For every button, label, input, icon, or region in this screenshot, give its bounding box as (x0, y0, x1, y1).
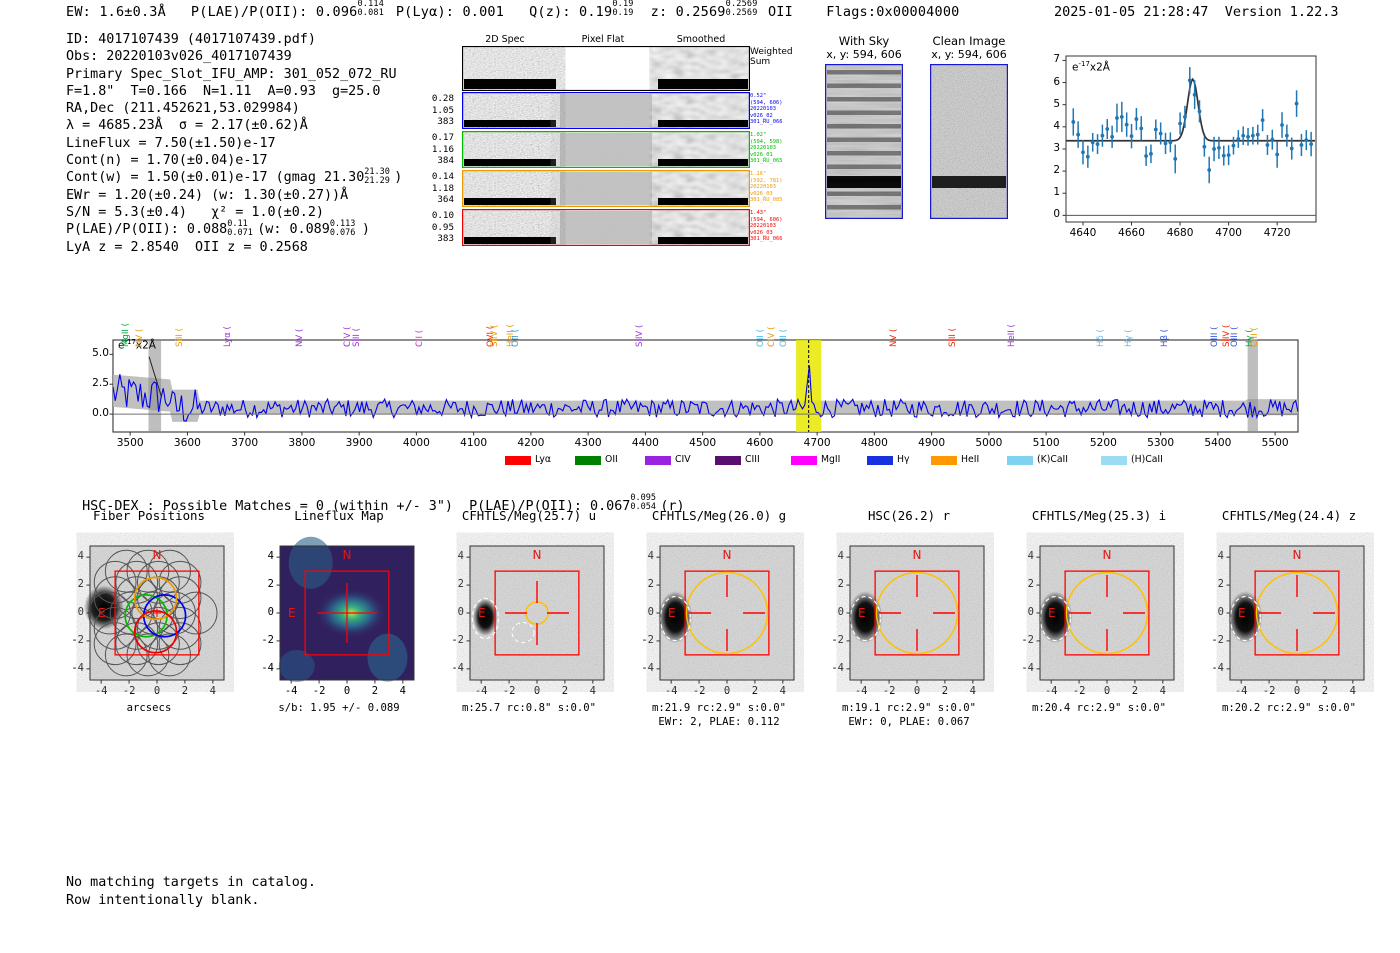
spectrum-xtick: 4500 (683, 437, 723, 449)
col-header-smoothed: Smoothed (656, 34, 746, 45)
compass-north: N (723, 548, 732, 562)
legend-label-Lyα: Lyα (535, 454, 551, 465)
spectrum-xtick: 4600 (740, 437, 780, 449)
spectrum-line-label: MgII ( (121, 323, 131, 347)
cutout-panel-5: CFHTLS/Meg(25.3) i-4-2024-4-2024NEm:20.4… (1014, 508, 1184, 723)
compass-north: N (343, 548, 352, 562)
weighted-sum-strip (462, 46, 750, 91)
info-cont-n: Cont(n) = 1.70(±0.04)e-17 (66, 152, 402, 169)
legend-label-CIV: CIV (675, 454, 691, 465)
fiber-weights-1: 0.171.16384 (424, 132, 454, 167)
legend-swatch-MgII (791, 456, 817, 465)
sky-panel-image-0 (825, 64, 903, 219)
header-summary-line: EW: 1.6±0.3Å P(LAE)/P(OII): 0.0960.1140.… (66, 4, 960, 20)
z-value: 0.2569 (676, 4, 726, 20)
cutout-image-4: NE (824, 522, 994, 692)
spectrum-ytick: 5.0 (85, 347, 109, 359)
z-errors: 0.25690.2569 (726, 5, 760, 19)
spectrum-line-label: SiIV ( (490, 325, 500, 347)
legend-label-Hγ: Hγ (897, 454, 910, 465)
spectrum-line-label: CIV ( (767, 327, 777, 348)
sky-panel-title-0: With Sky (820, 34, 908, 48)
legend-swatch-CIV (645, 456, 671, 465)
fiber-weights-0: 0.281.05383 (424, 93, 454, 128)
fiber-weights-3: 0.100.95383 (424, 210, 454, 245)
cutout-title-4: HSC(26.2) r (824, 508, 994, 523)
timestamp: 2025-01-05 21:28:47 (1054, 4, 1208, 20)
legend-swatch-HeII (931, 456, 957, 465)
spectrum-line-label: CIII ( (1250, 327, 1260, 347)
cutout-caption-4: m:19.1 rc:2.9" s:0.0" (824, 702, 994, 714)
fiber-weights-2: 0.141.18364 (424, 171, 454, 206)
spectrum-xtick: 5300 (1141, 437, 1181, 449)
cutout-image-5: NE (1014, 522, 1184, 692)
legend-label-CIII: CIII (745, 454, 760, 465)
legend-swatch-Hγ (867, 456, 893, 465)
flags-value: Flags:0x00004000 (826, 4, 959, 20)
spectrum-xtick: 4100 (454, 437, 494, 449)
fiber-meta-2: 1.16" (592, 781) 20220103 v026_03 301_RU… (750, 171, 782, 204)
compass-east: E (288, 606, 296, 620)
spectrum-legend: LyαOIICIVCIIIMgIIHγHeII(K)CaII(H)CaII (85, 454, 1300, 468)
fiber-meta-3: 1.43" (594, 606) 20220103 v026_03 301_RU… (750, 210, 782, 243)
linefit-xtick: 4700 (1213, 227, 1245, 239)
z-label: z: (651, 4, 668, 20)
fiber-weight-b: 1.18 (424, 183, 454, 195)
cutout-caption-0: arcsecs (64, 702, 234, 714)
fiber-weight-b: 1.16 (424, 144, 454, 156)
fiber-weight-b: 0.95 (424, 222, 454, 234)
compass-north: N (1103, 548, 1112, 562)
spectrum-line-label: SiII ( (175, 328, 185, 347)
spectrum-xtick: 4300 (568, 437, 608, 449)
fiber-weight-c: 383 (424, 116, 454, 128)
line-fit-svg (1032, 46, 1322, 256)
spectrum-line-label: Lyα ( (223, 326, 233, 347)
cutout-panel-2: CFHTLS/Meg(25.7) u-4-2024-4-2024NEm:25.7… (444, 508, 614, 723)
spectrum-xtick: 4900 (912, 437, 952, 449)
ew-value: 1.6±0.3Å (99, 4, 166, 20)
spectrum-xtick: 3700 (225, 437, 265, 449)
info-seeing: F=1.8" T=0.166 N=1.11 A=0.93 g=25.0 (66, 83, 402, 100)
col-header-pixelflat: Pixel Flat (558, 34, 648, 45)
legend-label-MgII: MgII (821, 454, 840, 465)
cutout-panel-3: CFHTLS/Meg(26.0) g-4-2024-4-2024NEm:21.9… (634, 508, 804, 723)
spectrum-line-label: OII ( (511, 329, 521, 347)
qz-value: 0.19 (579, 4, 612, 20)
col-header-2dspec: 2D Spec (460, 34, 550, 45)
spectrum-ytick: 0.0 (85, 407, 109, 419)
spectrum-xtick: 3500 (110, 437, 150, 449)
linefit-xtick: 4720 (1261, 227, 1293, 239)
line-fit-plot: e-17x2Å4640466046804700472001234567 (1032, 46, 1322, 256)
cutout-title-3: CFHTLS/Meg(26.0) g (634, 508, 804, 523)
object-info-block: ID: 4017107439 (4017107439.pdf) Obs: 202… (66, 31, 402, 256)
sky-panel-coords-1: x, y: 594, 606 (925, 48, 1013, 61)
footer-line-2: Row intentionally blank. (66, 892, 316, 910)
footer-note: No matching targets in catalog. Row inte… (66, 874, 316, 910)
footer-line-1: No matching targets in catalog. (66, 874, 316, 892)
compass-north: N (533, 548, 542, 562)
plya-label: P(Lyα): (396, 4, 454, 20)
spectrum-line-label: SiII ( (948, 328, 958, 347)
cutout-title-0: Fiber Positions (64, 508, 234, 523)
fiber-weight-a: 0.28 (424, 93, 454, 105)
info-lineflux: LineFlux = 7.50(±1.50)e-17 (66, 135, 402, 152)
info-plae-w-errors: 0.1130.076 (330, 222, 362, 236)
spectrum-xtick: 4800 (854, 437, 894, 449)
legend-swatch-(H)CaII (1101, 456, 1127, 465)
spectrum-line-label: Hδ ( (1096, 329, 1106, 347)
linefit-ytick: 5 (1042, 98, 1060, 110)
spectrum-line-label: NV ( (889, 329, 899, 347)
fiber-weight-c: 384 (424, 155, 454, 167)
svg-text:+: + (152, 606, 163, 621)
spectrum-line-label: Hγ ( (1124, 329, 1134, 347)
gmag-errors: 21.3021.29 (364, 170, 394, 184)
version-label: Version 1.22.3 (1225, 4, 1339, 20)
spectrum-line-label: HeII ( (1007, 324, 1017, 347)
linefit-xtick: 4660 (1116, 227, 1148, 239)
cutout-caption-6: m:20.2 rc:2.9" s:0.0" (1204, 702, 1374, 714)
spectrum-line-label: SiIV ( (635, 325, 645, 347)
plae-value: 0.096 (316, 4, 358, 20)
sky-panel-image-1 (930, 64, 1008, 219)
fiber-weight-a: 0.17 (424, 132, 454, 144)
spectrum-line-label: NV ( (135, 329, 145, 347)
linefit-ytick: 6 (1042, 76, 1060, 88)
cutout-image-3: NE (634, 522, 804, 692)
info-lambda-sigma: λ = 4685.23Å σ = 2.17(±0.62)Å (66, 117, 402, 134)
header-timestamp-version: 2025-01-05 21:28:47 Version 1.22.3 (1054, 4, 1339, 20)
cutout-image-2: NE (444, 522, 614, 692)
info-cont-w: Cont(w) = 1.50(±0.01)e-17 (gmag 21.3021.… (66, 169, 402, 186)
info-id: ID: 4017107439 (4017107439.pdf) (66, 31, 402, 48)
spectrum-xtick: 4400 (625, 437, 665, 449)
legend-swatch-(K)CaII (1007, 456, 1033, 465)
spectrum-ytick: 2.5 (85, 377, 109, 389)
linefit-ytick: 0 (1042, 208, 1060, 220)
linefit-xtick: 4640 (1067, 227, 1099, 239)
legend-label-HeII: HeII (961, 454, 979, 465)
cutout-image-1: NE (254, 522, 424, 692)
spectrum-xtick: 5400 (1198, 437, 1238, 449)
legend-swatch-OII (575, 456, 601, 465)
cutout-panel-6: CFHTLS/Meg(24.4) z-4-2024-4-2024NEm:20.2… (1204, 508, 1374, 723)
sky-panel-title-1: Clean Image (925, 34, 1013, 48)
cutout-caption-5: m:20.4 rc:2.9" s:0.0" (1014, 702, 1184, 714)
info-plae: P(LAE)/P(OII): 0.0880.110.071(w: 0.0890.… (66, 221, 402, 238)
fiber-strip-2 (462, 170, 750, 207)
info-spec-slot: Primary Spec_Slot_IFU_AMP: 301_052_072_R… (66, 66, 402, 83)
spectrum-xtick: 4200 (511, 437, 551, 449)
spectrum-xtick: 5500 (1255, 437, 1295, 449)
spectrum-xtick: 3900 (339, 437, 379, 449)
cutout-image-6: NE (1204, 522, 1374, 692)
info-obs: Obs: 20220103v026_4017107439 (66, 48, 402, 65)
compass-east: E (858, 606, 866, 620)
cutout-caption2-3: EWr: 2, PLAE: 0.112 (634, 716, 804, 728)
spectrum-line-label: OIII ( (1210, 327, 1220, 347)
spectrum-line-label: OIII ( (1230, 327, 1240, 347)
spectrum-line-label: OII ( (756, 329, 766, 347)
linefit-ytick: 1 (1042, 186, 1060, 198)
plae-errors: 0.1140.081 (357, 5, 387, 19)
info-radec: RA,Dec (211.452621,53.029984) (66, 100, 402, 117)
spectrum-xtick: 5200 (1083, 437, 1123, 449)
legend-swatch-Lyα (505, 456, 531, 465)
spectrum-xtick: 5100 (1026, 437, 1066, 449)
fiber-meta-1: 1.02" (594, 598) 20220103 v026_01 301_RU… (750, 132, 782, 165)
plya-value: 0.001 (462, 4, 504, 20)
spectrum-line-label: NV ( (295, 329, 305, 347)
fiber-strip-3 (462, 209, 750, 246)
spectrum-line-label: CII ( (415, 330, 425, 347)
spectrum-xtick: 5000 (969, 437, 1009, 449)
spectrum-xtick: 4000 (396, 437, 436, 449)
cutout-panel-0: Fiber Positions-4-2024-4-2024+NEarcsecs (64, 508, 234, 723)
weighted-sum-label: Weighted Sum (750, 47, 793, 67)
compass-north: N (913, 548, 922, 562)
spectrum-line-label: Hβ ( (1160, 329, 1170, 347)
qz-errors: 0.190.19 (612, 5, 642, 19)
legend-label-OII: OII (605, 454, 618, 465)
cutout-title-6: CFHTLS/Meg(24.4) z (1204, 508, 1374, 523)
fiber-weight-a: 0.10 (424, 210, 454, 222)
ew-label: EW: (66, 4, 91, 20)
linefit-ytick: 2 (1042, 164, 1060, 176)
cutout-panel-4: HSC(26.2) r-4-2024-4-2024NEm:19.1 rc:2.9… (824, 508, 994, 723)
spectrum-line-label: SiII ( (352, 328, 362, 347)
compass-east: E (98, 606, 106, 620)
qz-label: Q(z): (529, 4, 571, 20)
legend-swatch-CIII (715, 456, 741, 465)
compass-east: E (1048, 606, 1056, 620)
cutout-caption-2: m:25.7 rc:0.8" s:0.0" (444, 702, 614, 714)
fiber-weight-a: 0.14 (424, 171, 454, 183)
cutout-title-2: CFHTLS/Meg(25.7) u (444, 508, 614, 523)
spectrum-line-label: CIV ( (343, 327, 353, 348)
linefit-ytick: 3 (1042, 142, 1060, 154)
cutout-title-5: CFHTLS/Meg(25.3) i (1014, 508, 1184, 523)
cutout-caption-1: s/b: 1.95 +/- 0.089 (254, 702, 424, 714)
fiber-weight-b: 1.05 (424, 105, 454, 117)
spectrum-line-label: OII ( (779, 329, 789, 347)
z-species: OII (768, 4, 793, 20)
compass-east: E (668, 606, 676, 620)
full-spectrum-panel: e-17x2Å0.02.55.0350036003700380039004000… (85, 268, 1300, 468)
spectrum-xtick: 4700 (797, 437, 837, 449)
info-ewr: EWr = 1.20(±0.24) (w: 1.30(±0.27))Å (66, 187, 402, 204)
compass-north: N (153, 548, 162, 562)
fiber-strip-0 (462, 92, 750, 129)
info-plae-errors: 0.110.071 (227, 222, 257, 236)
compass-east: E (478, 606, 486, 620)
compass-north: N (1293, 548, 1302, 562)
fiber-strip-1 (462, 131, 750, 168)
cutout-caption-3: m:21.9 rc:2.9" s:0.0" (634, 702, 804, 714)
cutout-caption2-4: EWr: 0, PLAE: 0.067 (824, 716, 994, 728)
linefit-xtick: 4680 (1164, 227, 1196, 239)
cutout-panel-1: Lineflux Map-4-2024-4-2024NEs/b: 1.95 +/… (254, 508, 424, 723)
fiber-weight-c: 383 (424, 233, 454, 245)
fiber-meta-0: 0.52" (594, 606) 20220103 v026_02 301_RU… (750, 93, 782, 126)
plae-label: P(LAE)/P(OII): (191, 4, 308, 20)
spectrum-xtick: 3600 (167, 437, 207, 449)
linefit-ytick: 4 (1042, 120, 1060, 132)
linefit-unit-label: e-17x2Å (1072, 60, 1110, 74)
legend-label-(K)CaII: (K)CaII (1037, 454, 1068, 465)
spectrum-xtick: 3800 (282, 437, 322, 449)
cutout-title-1: Lineflux Map (254, 508, 424, 523)
sky-panel-coords-0: x, y: 594, 606 (820, 48, 908, 61)
cutout-image-0: +NE (64, 522, 234, 692)
linefit-ytick: 7 (1042, 53, 1060, 65)
fiber-weight-c: 364 (424, 194, 454, 206)
compass-east: E (1238, 606, 1246, 620)
legend-label-(H)CaII: (H)CaII (1131, 454, 1163, 465)
